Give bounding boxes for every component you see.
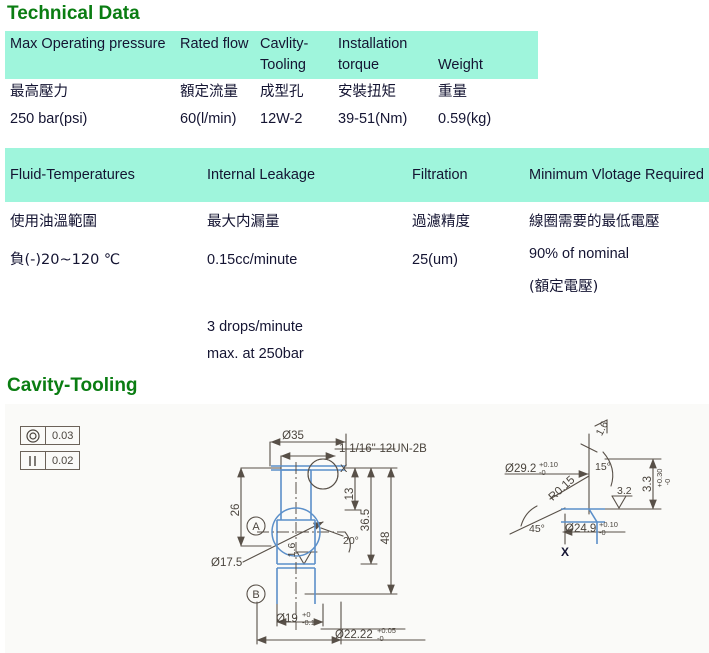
roughness-1-6-detail: 1.6 [594,419,612,438]
dim-dia-29-2-tol-lower: -0 [539,468,546,477]
cell-cavity-value: 12W-2 [255,106,333,133]
datum-a: A [252,521,260,533]
cell-weight-cjk: 重量 [433,79,538,106]
dim-3-3: 3.3 [642,476,654,492]
roughness-1-6-main: 1.6 [286,543,298,558]
table-row-header: Max Operating pressure Rated flow Cavlit… [5,31,538,79]
column-header-cavlity-tooling: Cavlity-Tooling [255,31,333,79]
dim-top-diameter: Ø35 [282,430,304,442]
dim-dia-22-22: Ø22.22 [335,629,373,641]
roughness-3-2-detail: 3.2 [617,485,632,497]
page-title-cavity-tooling: Cavity-Tooling [7,375,138,397]
table-row: 3 drops/minute [5,301,709,341]
dim-dia-17-5: Ø17.5 [211,557,242,569]
cell-rated-flow-cjk: 額定流量 [175,79,255,106]
dim-angle-45: 45° [529,523,545,535]
technical-data-table-2: Fluid-Temperatures Internal Leakage Filt… [5,148,709,368]
gdt-frame-parallelism: 0.02 [20,451,80,470]
cell-filtration-value: 25(um) [407,236,524,274]
dim-dia-19-tol-lower: -0.1 [302,618,315,627]
dim-3-3-tol-lower: -0 [663,479,672,486]
column-header-minimum-voltage-required: Minimum Vlotage Required [524,148,709,202]
dim-36-5: 36.5 [360,509,372,531]
cell-cavity-cjk: 成型孔 [255,79,333,106]
table-row: 使用油溫範圍 最大内漏量 過濾精度 線圈需要的最低電壓 [5,202,709,236]
cell-torque-cjk: 安裝扭矩 [333,79,433,106]
table-row: 負(-)20~120 ℃ 0.15cc/minute 25(um) 90% of… [5,236,709,274]
cell-torque-value: 39-51(Nm) [333,106,433,133]
dim-dia-29-2: Ø29.2 [505,463,536,475]
cavity-tooling-drawing-panel: Ø35 1-1/16"-12UN-2B X 26 13 36.5 48 20° … [5,404,709,653]
dim-dia-24-9: Ø24.9 [565,523,596,535]
dim-48: 48 [380,532,392,545]
column-header-filtration: Filtration [407,148,524,202]
column-header-fluid-temperatures: Fluid-Temperatures [5,148,202,202]
dim-dia-19: Ø19 [276,613,298,625]
dim-angle-15: 15° [595,461,611,473]
table-row: 最高壓力 額定流量 成型孔 安裝扭矩 重量 [5,79,538,106]
column-header-weight: Weight [433,31,538,79]
cell-leakage-drops: 3 drops/minute [202,301,407,341]
cell-fluid-temp-value: 負(-)20~120 ℃ [5,236,202,274]
page-title-technical-data: Technical Data [7,3,140,25]
dim-13: 13 [344,488,356,501]
table-row: (額定電壓) [5,274,709,301]
cell-voltage-note: (額定電壓) [524,274,709,301]
table-row: max. at 250bar [5,341,709,368]
cell-max-pressure-cjk: 最高壓力 [5,79,175,106]
concentricity-icon [21,427,46,444]
cell-leakage-value: 0.15cc/minute [202,236,407,274]
dim-dia-22-22-tol-lower: -0 [377,634,384,643]
dim-depth-26: 26 [230,504,242,517]
cell-leakage-cjk: 最大内漏量 [202,202,407,236]
table-row: 250 bar(psi) 60(l/min) 12W-2 39-51(Nm) 0… [5,106,538,133]
dim-angle-20: 20° [343,535,359,547]
gdt-concentricity-value: 0.03 [46,427,79,444]
column-header-max-operating-pressure: Max Operating pressure [5,31,175,79]
table-row-header: Fluid-Temperatures Internal Leakage Filt… [5,148,709,202]
parallelism-icon [21,452,46,469]
detail-marker-x: X [340,463,348,475]
cavity-tooling-drawing: Ø35 1-1/16"-12UN-2B X 26 13 36.5 48 20° … [5,404,709,653]
cell-rated-flow-value: 60(l/min) [175,106,255,133]
datum-b: B [252,589,259,601]
cell-voltage-cjk: 線圈需要的最低電壓 [524,202,709,236]
cell-voltage-value: 90% of nominal [524,236,709,274]
cell-leakage-max: max. at 250bar [202,341,407,368]
cell-fluid-temp-cjk: 使用油溫範圍 [5,202,202,236]
column-header-rated-flow: Rated flow [175,31,255,79]
dim-dia-24-9-tol-lower: -0 [599,528,606,537]
cell-weight-value: 0.59(kg) [433,106,538,133]
technical-data-table-1: Max Operating pressure Rated flow Cavlit… [5,31,538,133]
column-header-installation-torque: Installation torque [333,31,433,79]
dim-radius-r0-15: R0.15 [547,474,578,503]
gdt-frame-concentricity: 0.03 [20,426,80,445]
dim-thread-callout: 1-1/16"-12UN-2B [339,443,427,455]
gdt-parallelism-value: 0.02 [46,452,79,469]
detail-view-label-x: X [561,545,569,559]
column-header-internal-leakage: Internal Leakage [202,148,407,202]
cell-max-pressure-value: 250 bar(psi) [5,106,175,133]
cell-filtration-cjk: 過濾精度 [407,202,524,236]
